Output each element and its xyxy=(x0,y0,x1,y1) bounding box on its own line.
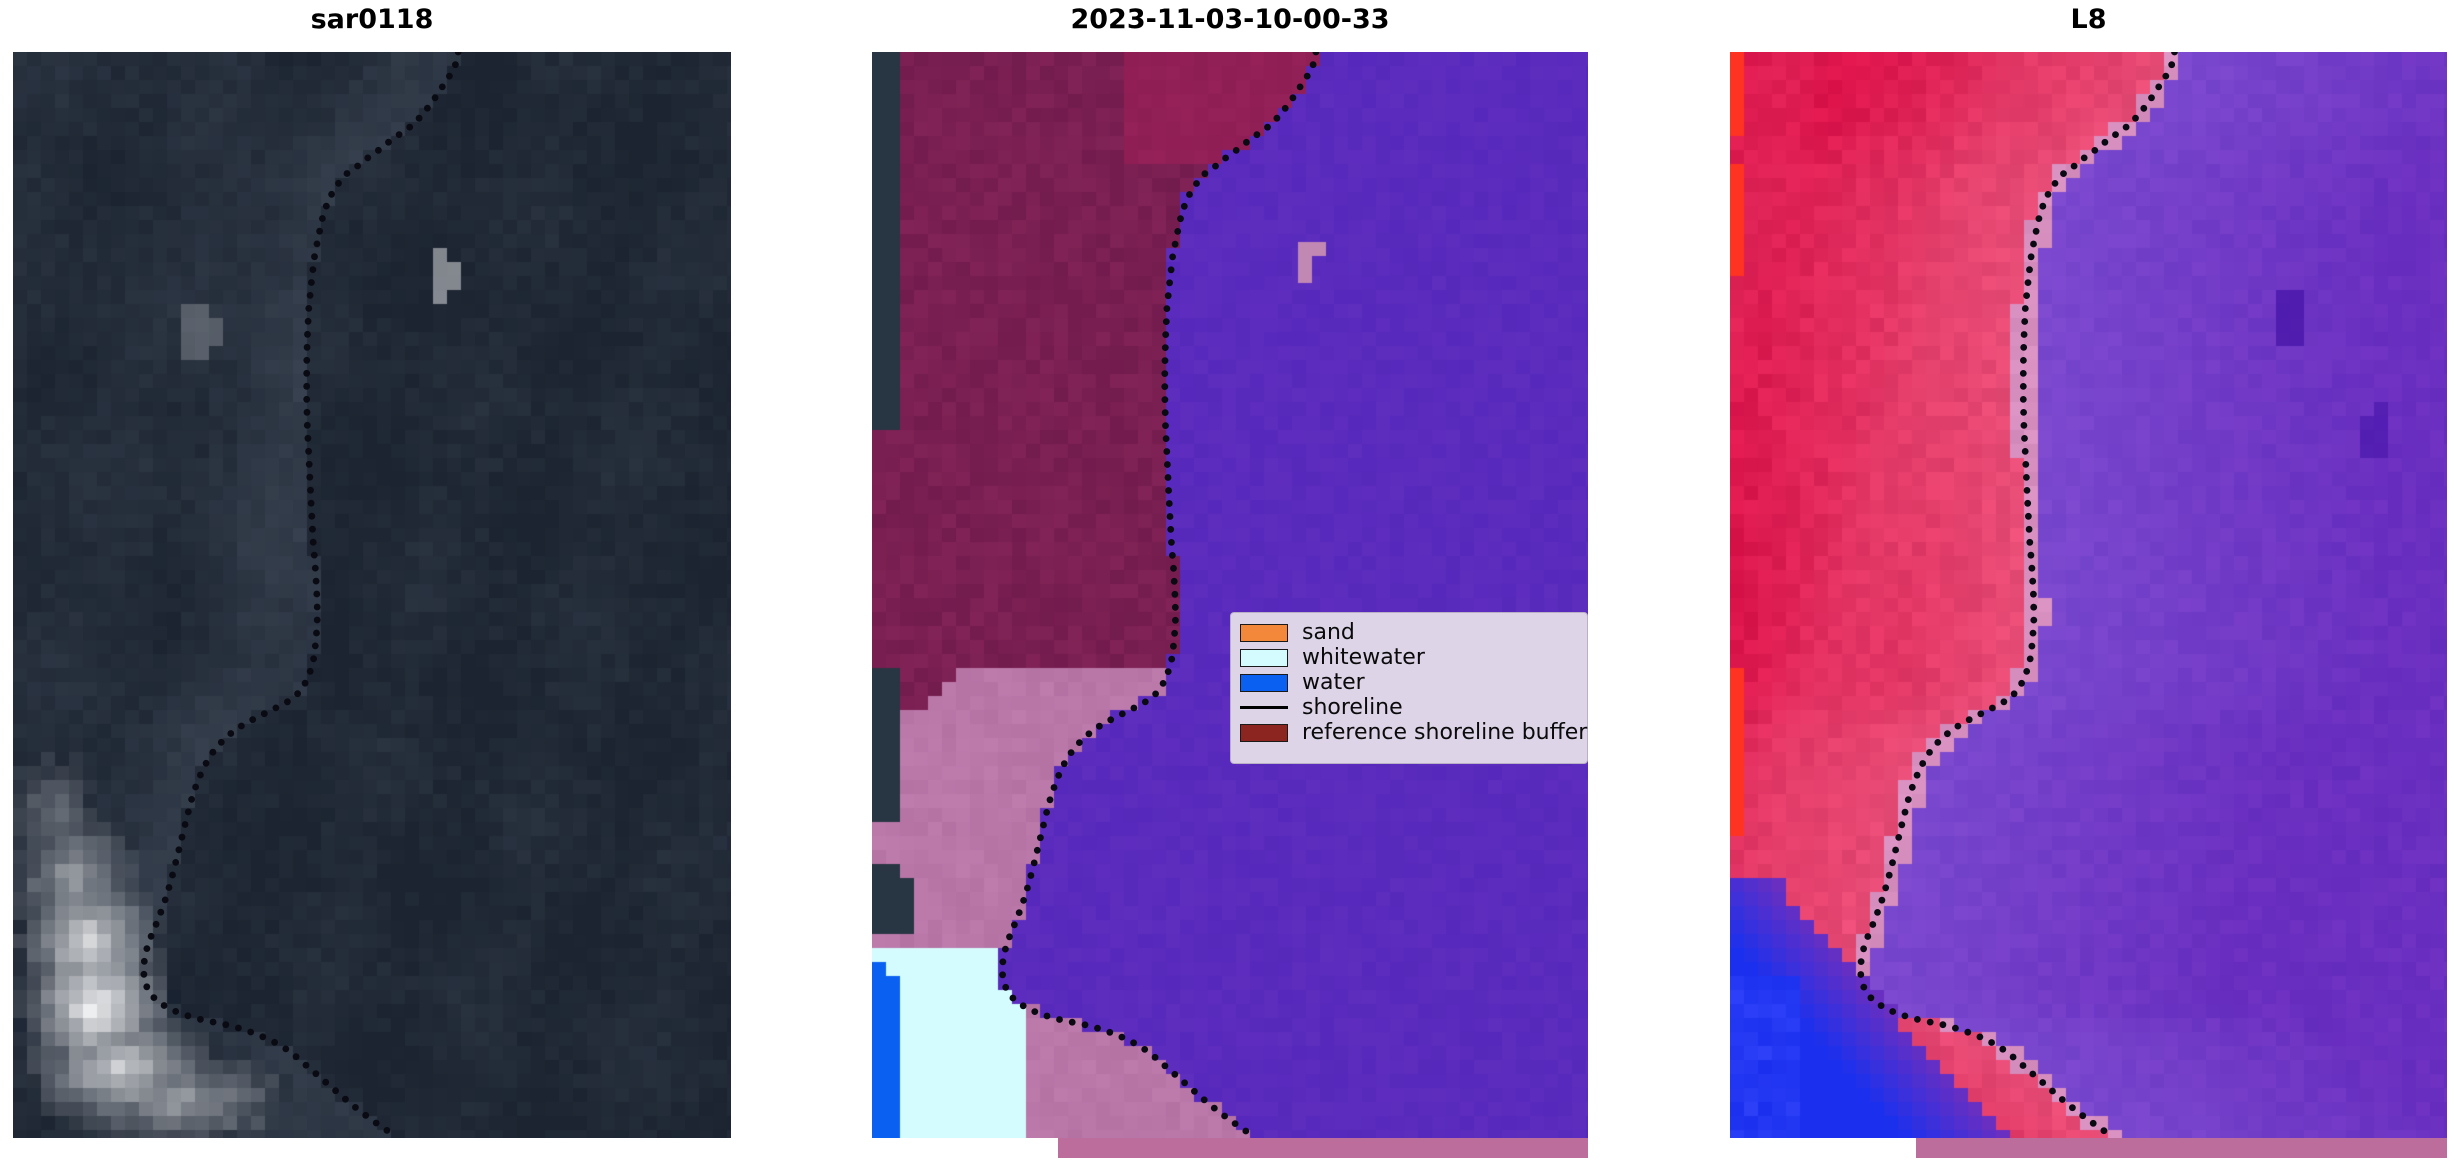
panel-l8-image[interactable] xyxy=(1730,52,2447,1138)
legend-label-water: water xyxy=(1302,670,1365,695)
legend-item-reference-buffer[interactable]: reference shoreline buffer xyxy=(1240,720,1578,745)
legend-label-shoreline: shoreline xyxy=(1302,695,1403,720)
classified-bottom-strip xyxy=(1058,1138,1588,1158)
classified-shoreline-overlay xyxy=(872,52,1588,1138)
legend-item-sand[interactable]: sand xyxy=(1240,620,1578,645)
legend-item-shoreline[interactable]: shoreline xyxy=(1240,695,1578,720)
panel-title-l8: L8 xyxy=(1730,4,2447,35)
whitewater-swatch-icon xyxy=(1240,649,1288,667)
shoreline-line-icon xyxy=(1240,706,1288,709)
panel-sar-image[interactable] xyxy=(13,52,731,1138)
map-legend[interactable]: sand whitewater water shoreline referenc… xyxy=(1230,612,1588,764)
l8-shoreline-overlay xyxy=(1730,52,2447,1138)
legend-label-sand: sand xyxy=(1302,620,1355,645)
water-swatch-icon xyxy=(1240,674,1288,692)
panel-title-classified: 2023-11-03-10-00-33 xyxy=(872,4,1588,35)
sand-swatch-icon xyxy=(1240,624,1288,642)
l8-bottom-strip xyxy=(1916,1138,2447,1158)
legend-item-whitewater[interactable]: whitewater xyxy=(1240,645,1578,670)
figure-canvas: sar0118 2023-11-03-10-00-33 L8 sand whit… xyxy=(0,0,2460,1168)
panel-classified-image[interactable] xyxy=(872,52,1588,1138)
legend-label-whitewater: whitewater xyxy=(1302,645,1425,670)
panel-title-sar: sar0118 xyxy=(13,4,731,35)
sar-shoreline-overlay xyxy=(13,52,731,1138)
reference-buffer-swatch-icon xyxy=(1240,724,1288,742)
legend-label-reference-buffer: reference shoreline buffer xyxy=(1302,720,1587,745)
legend-item-water[interactable]: water xyxy=(1240,670,1578,695)
